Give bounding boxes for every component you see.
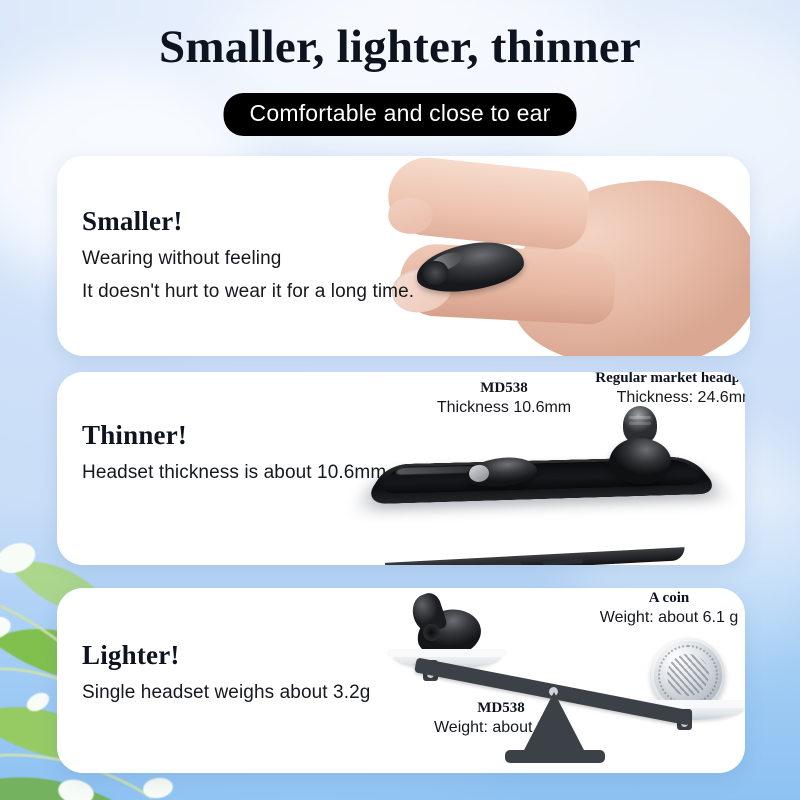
- label-value: Weight: about 6.1 g: [579, 609, 745, 627]
- feature-card-smaller[interactable]: Smaller! Wearing without feeling It does…: [57, 156, 750, 356]
- card-line: Single headset weighs about 3.2g: [82, 682, 370, 704]
- card-heading: Lighter!: [82, 640, 370, 671]
- phone-with-two-earbuds-photo: MD538 Thickness 10.6mm Regular market he…: [357, 372, 745, 565]
- label-title: MD538: [419, 380, 589, 397]
- product-infographic: Smaller, lighter, thinner Comfortable an…: [0, 0, 800, 800]
- label-md538-thickness: MD538 Thickness 10.6mm: [419, 380, 589, 417]
- card-text-block: Lighter! Single headset weighs about 3.2…: [82, 640, 370, 704]
- phone-side-edge: [385, 547, 685, 565]
- earbud-regular-thick: [605, 406, 673, 482]
- card-text-block: Thinner! Headset thickness is about 10.6…: [82, 420, 386, 484]
- earbud-nozzle: [423, 624, 440, 641]
- index-finger: [384, 156, 591, 252]
- scale-pivot: [522, 692, 586, 754]
- coin-engraving: [667, 654, 709, 696]
- label-value: Thickness 10.6mm: [419, 399, 589, 417]
- label-regular-headphones-thickness: Regular market headphones Thickness: 24.…: [571, 372, 745, 407]
- label-title: Regular market headphones: [571, 372, 745, 387]
- feature-card-thinner[interactable]: MD538 Thickness 10.6mm Regular market he…: [57, 372, 745, 565]
- card-line: It doesn't hurt to wear it for a long ti…: [82, 281, 414, 303]
- card-line: Wearing without feeling: [82, 248, 414, 270]
- card-heading: Smaller!: [82, 206, 414, 237]
- subtitle-badge: Comfortable and close to ear: [224, 93, 577, 136]
- hand-holding-earbud-photo: [370, 156, 750, 356]
- earbud-body: [609, 438, 671, 484]
- phone-button: [543, 558, 583, 565]
- earbud-on-left-pan: [411, 594, 483, 656]
- card-heading: Thinner!: [82, 420, 386, 451]
- page-title: Smaller, lighter, thinner: [0, 22, 800, 73]
- scale-base: [505, 750, 605, 763]
- card-text-block: Smaller! Wearing without feeling It does…: [82, 206, 414, 303]
- label-title: A coin: [579, 590, 745, 607]
- label-coin-weight: A coin Weight: about 6.1 g: [579, 590, 745, 627]
- phone-button: [481, 562, 521, 565]
- balance-scale-earbud-vs-coin: A coin Weight: about 6.1 g MD538 Weight:…: [387, 588, 745, 773]
- label-value: Thickness: 24.6mm: [571, 389, 745, 407]
- feature-card-lighter[interactable]: A coin Weight: about 6.1 g MD538 Weight:…: [57, 588, 745, 773]
- card-line: Headset thickness is about 10.6mm: [82, 462, 386, 484]
